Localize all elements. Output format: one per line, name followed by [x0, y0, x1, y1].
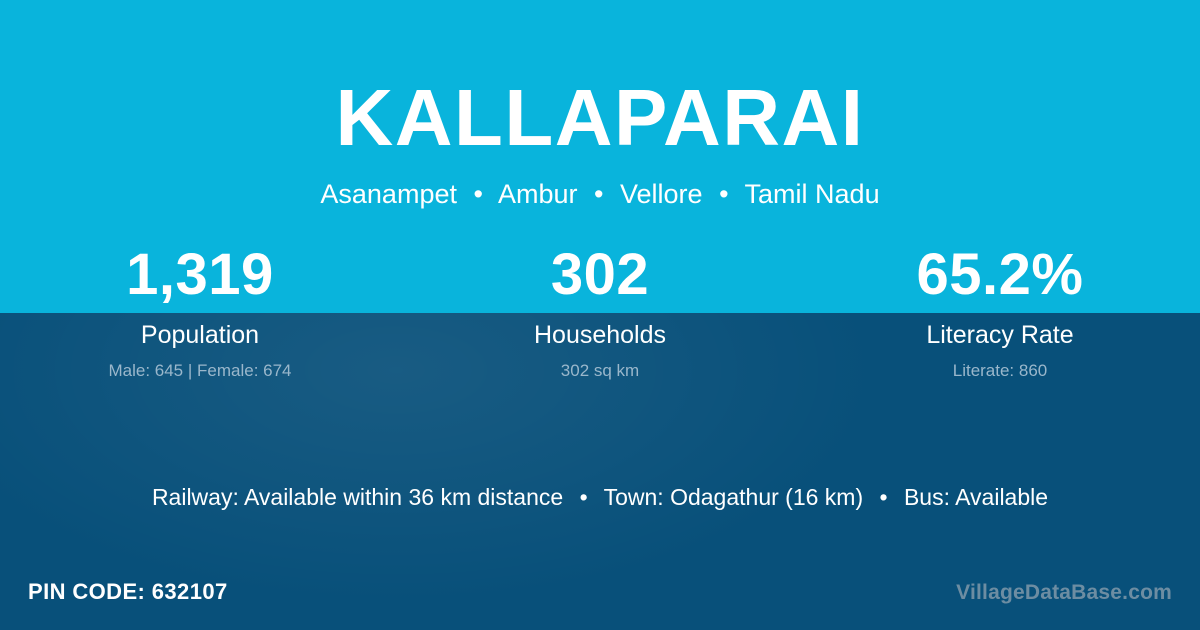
stat-sublabel: 302 sq km: [400, 348, 800, 379]
stat-label: Households: [400, 304, 800, 348]
stat-population: 1,319 Population Male: 645 | Female: 674: [0, 246, 400, 379]
brand-watermark: VillageDataBase.com: [956, 582, 1172, 603]
pin-code-label: PIN CODE: 632107: [28, 581, 228, 603]
stat-value: 65.2%: [800, 246, 1200, 304]
card-footer: PIN CODE: 632107 VillageDataBase.com: [0, 575, 1200, 609]
infrastructure-separator-1: •: [870, 486, 898, 509]
breadcrumb-item-3: Tamil Nadu: [745, 179, 880, 209]
breadcrumb-item-0: Asanampet: [320, 179, 457, 209]
infrastructure-item-railway: Railway: Available within 36 km distance: [152, 484, 563, 510]
stat-sublabel: Literate: 860: [800, 348, 1200, 379]
stat-value: 1,319: [0, 246, 400, 304]
infrastructure-summary: Railway: Available within 36 km distance…: [0, 486, 1200, 509]
stat-label: Population: [0, 304, 400, 348]
breadcrumb-separator-0: •: [465, 181, 492, 208]
infrastructure-item-bus: Bus: Available: [904, 484, 1048, 510]
breadcrumb-item-2: Vellore: [620, 179, 703, 209]
stat-households: 302 Households 302 sq km: [400, 246, 800, 379]
stat-label: Literacy Rate: [800, 304, 1200, 348]
stat-sublabel: Male: 645 | Female: 674: [0, 348, 400, 379]
stat-value: 302: [400, 246, 800, 304]
breadcrumb-separator-1: •: [585, 181, 612, 208]
infrastructure-separator-0: •: [570, 486, 598, 509]
breadcrumb-item-1: Ambur: [498, 179, 578, 209]
stats-row: 1,319 Population Male: 645 | Female: 674…: [0, 246, 1200, 379]
infrastructure-item-town: Town: Odagathur (16 km): [604, 484, 864, 510]
page-title: KALLAPARAI: [0, 0, 1200, 158]
card-header: KALLAPARAI Asanampet • Ambur • Vellore •…: [0, 0, 1200, 208]
breadcrumb-separator-2: •: [710, 181, 737, 208]
stat-literacy-rate: 65.2% Literacy Rate Literate: 860: [800, 246, 1200, 379]
breadcrumb: Asanampet • Ambur • Vellore • Tamil Nadu: [0, 158, 1200, 208]
village-info-card: KALLAPARAI Asanampet • Ambur • Vellore •…: [0, 0, 1200, 630]
